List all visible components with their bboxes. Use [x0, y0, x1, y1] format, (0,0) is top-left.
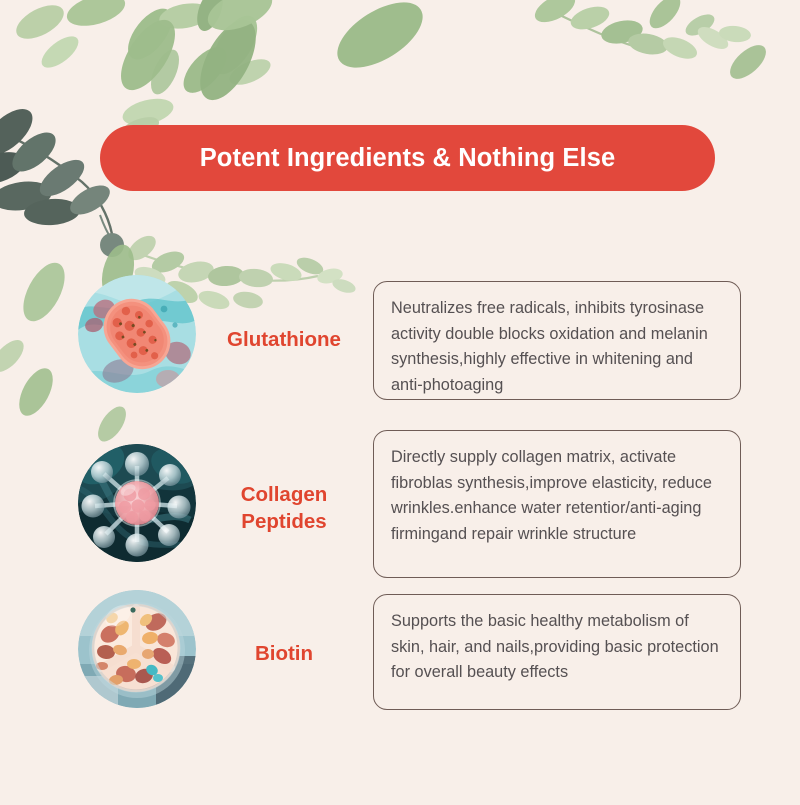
capsule-cross-section-illustration-icon: [78, 590, 196, 708]
ingredient-description: Supports the basic healthy metabolism of…: [373, 594, 741, 710]
ingredient-name: Biotin: [200, 640, 368, 667]
ingredient-name: Collagen Peptides: [200, 481, 368, 535]
molecule-structure-illustration-icon: [78, 444, 196, 562]
ingredient-row: Biotin Supports the basic healthy metabo…: [0, 588, 800, 718]
ingredient-description: Neutralizes free radicals, inhibits tyro…: [373, 281, 741, 400]
ingredient-description: Directly supply collagen matrix, activat…: [373, 430, 741, 578]
bacterium-cell-illustration-icon: [78, 275, 196, 393]
page-title: Potent Ingredients & Nothing Else: [200, 144, 616, 173]
header-banner: Potent Ingredients & Nothing Else: [100, 125, 715, 191]
ingredient-row: Collagen Peptides Directly supply collag…: [0, 428, 800, 588]
ingredient-row: Glutathione Neutralizes free radicals, i…: [0, 273, 800, 405]
ingredient-name: Glutathione: [200, 326, 368, 353]
